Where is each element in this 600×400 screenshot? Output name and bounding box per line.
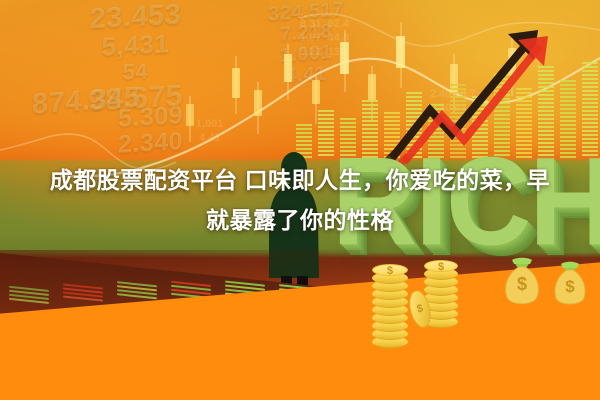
headline-line-2: 就暴露了你的性格 — [12, 200, 588, 240]
money-bag: $ — [550, 260, 590, 310]
coin-stack: $ — [372, 266, 408, 348]
headline-line-1: 成都股票配资平台 口味即人生，你爱吃的菜，早 — [12, 160, 588, 200]
ticker-cell — [6, 283, 52, 310]
banner-image: 23.453 5,431 54 98.675 874.345 5.309 2.3… — [0, 0, 600, 400]
dollar-sign: $ — [425, 261, 457, 273]
svg-text:$: $ — [517, 274, 527, 294]
svg-text:$: $ — [565, 277, 575, 296]
headline: 成都股票配资平台 口味即人生，你爱吃的菜，早 就暴露了你的性格 — [0, 160, 600, 240]
dollar-sign: $ — [373, 265, 407, 277]
money-bag: $ — [500, 256, 544, 310]
ticker-cell — [60, 281, 106, 308]
